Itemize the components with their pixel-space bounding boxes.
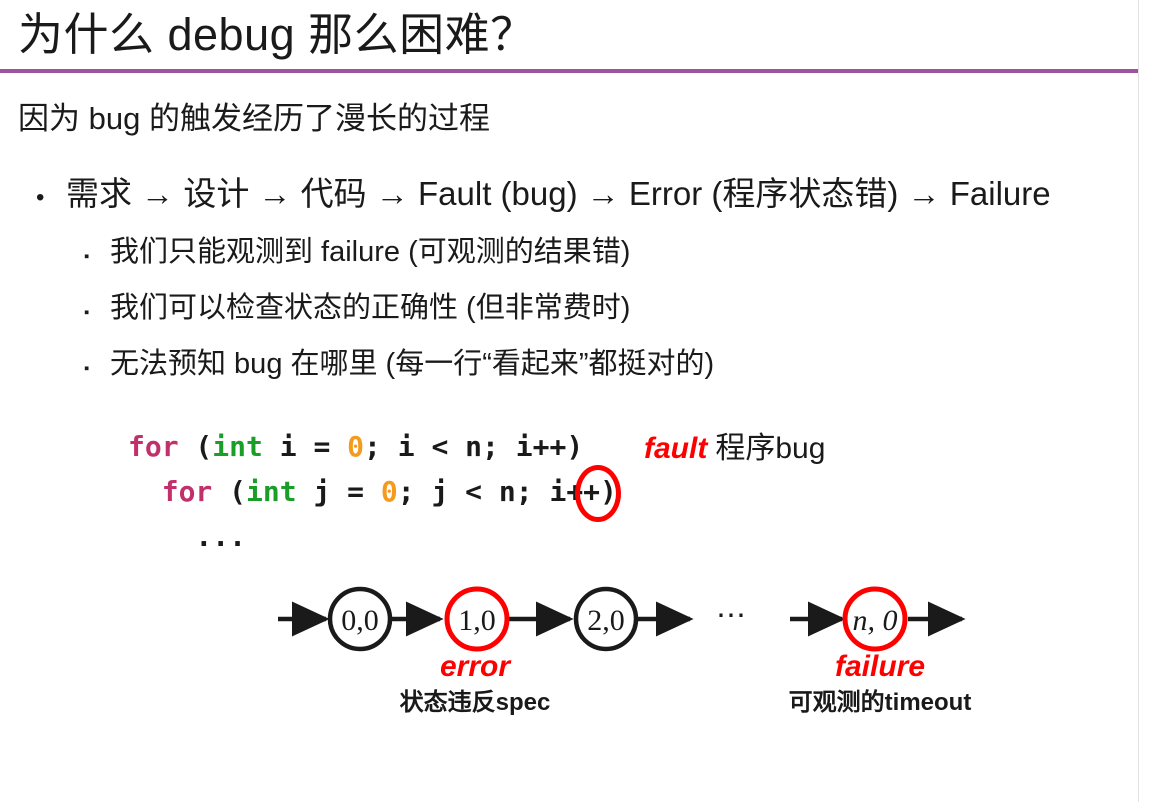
code-punct: ( bbox=[212, 475, 246, 508]
fault-annotation: fault程序bug bbox=[644, 428, 825, 470]
state-node-label: 1,0 bbox=[458, 604, 496, 637]
code-type-int: int bbox=[246, 475, 297, 508]
failure-label: failure bbox=[775, 648, 985, 686]
bullet-level2-label: 我们可以检查状态的正确性 (但非常费时) bbox=[110, 288, 630, 328]
diagram-ellipsis: ⋯ bbox=[716, 596, 750, 636]
code-line-3-ellipsis: ... bbox=[128, 520, 246, 553]
bullet-level2-check-state: ▪ 我们可以检查状态的正确性 (但非常费时) bbox=[84, 288, 630, 333]
code-var: i = bbox=[263, 430, 347, 463]
error-annotation: error 状态违反spec bbox=[380, 648, 570, 720]
code-keyword-for: for bbox=[162, 475, 213, 508]
code-number-zero: 0 bbox=[347, 430, 364, 463]
code-var: j = bbox=[297, 475, 381, 508]
bullet-marker-square: ▪ bbox=[84, 237, 110, 277]
bullet-level1: • 需求 → 设计 → 代码 → Fault (bug) → Error (程序… bbox=[36, 172, 1051, 220]
code-type-int: int bbox=[212, 430, 263, 463]
state-node-label: 0,0 bbox=[341, 604, 379, 637]
code-keyword-for: for bbox=[128, 430, 179, 463]
bullet-level2-unknown-bug: ▪ 无法预知 bug 在哪里 (每一行“看起来”都挺对的) bbox=[84, 344, 714, 389]
title-divider bbox=[0, 69, 1138, 73]
code-block: for (int i = 0; i < n; i++) for (int j =… bbox=[128, 424, 617, 559]
fault-label: fault bbox=[644, 432, 707, 465]
code-number-zero: 0 bbox=[381, 475, 398, 508]
slide: 为什么 debug 那么困难？ 因为 bug 的触发经历了漫长的过程 • 需求 … bbox=[0, 0, 1154, 802]
code-indent bbox=[128, 475, 162, 508]
bullet-marker-square: ▪ bbox=[84, 349, 110, 389]
bullet-marker-round: • bbox=[36, 176, 66, 220]
state-node-label: n, 0 bbox=[853, 604, 898, 637]
bug-highlight-ellipse-icon bbox=[575, 465, 621, 522]
failure-annotation: failure 可观测的timeout bbox=[775, 648, 985, 720]
bullet-level2-label: 无法预知 bug 在哪里 (每一行“看起来”都挺对的) bbox=[110, 344, 714, 384]
lead-text: 因为 bug 的触发经历了漫长的过程 bbox=[18, 98, 490, 140]
bullet-level2-label: 我们只能观测到 failure (可观测的结果错) bbox=[110, 232, 630, 272]
bullet-level1-label: 需求 → 设计 → 代码 → Fault (bug) → Error (程序状态… bbox=[66, 172, 1051, 216]
state-node-label: 2,0 bbox=[587, 604, 625, 637]
code-condition: ; i < n; i++) bbox=[364, 430, 583, 463]
bullet-level2-observe-failure: ▪ 我们只能观测到 failure (可观测的结果错) bbox=[84, 232, 630, 277]
error-label: error bbox=[380, 648, 570, 686]
error-description: 状态违反spec bbox=[380, 686, 570, 720]
code-punct: ( bbox=[179, 430, 213, 463]
code-line-1: for (int i = 0; i < n; i++) bbox=[128, 430, 583, 463]
code-line-2: for (int j = 0; j < n; i++) bbox=[128, 475, 617, 508]
page-title: 为什么 debug 那么困难？ bbox=[18, 6, 536, 64]
failure-description: 可观测的timeout bbox=[775, 686, 985, 720]
bullet-marker-square: ▪ bbox=[84, 293, 110, 333]
fault-description: 程序bug bbox=[715, 432, 825, 465]
